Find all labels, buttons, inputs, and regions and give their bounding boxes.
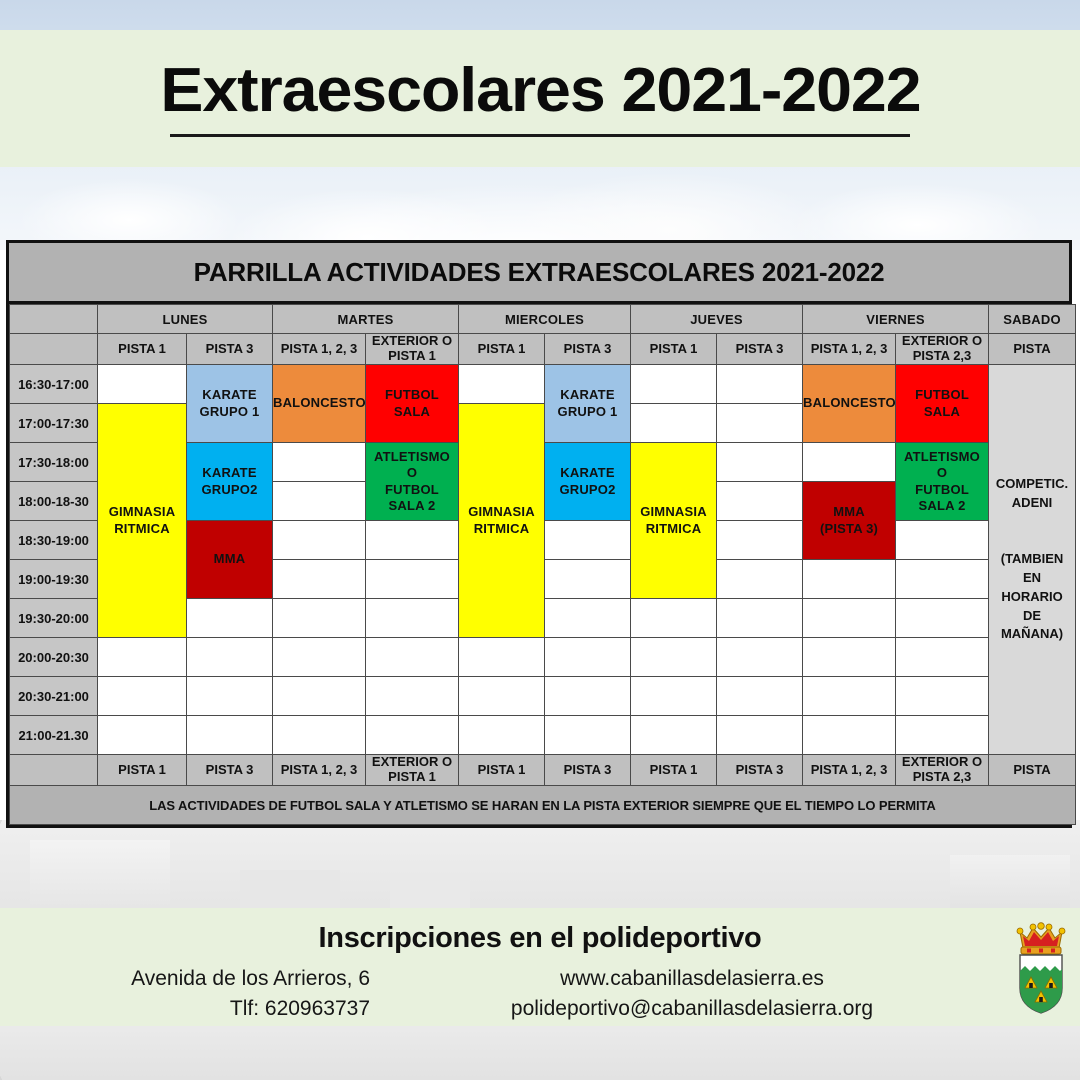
activity-atletismo-futbol-viernes: ATLETISMOOFUTBOLSALA 2 <box>896 443 989 521</box>
table-row: 21:00-21.30 <box>10 716 1076 755</box>
time-label-9: 21:00-21.30 <box>10 716 98 755</box>
day-header-sabado: SABADO <box>989 305 1076 334</box>
court-footer-martes-p123: PISTA 1, 2, 3 <box>273 755 366 786</box>
time-label-5: 19:00-19:30 <box>10 560 98 599</box>
cell-martes-ext-8 <box>366 677 459 716</box>
cell-jueves-p3-9 <box>717 716 803 755</box>
cell-lunes-p1-7 <box>98 638 187 677</box>
court-header-jueves-p3: PISTA 3 <box>717 334 803 365</box>
cell-lunes-p3-7 <box>187 638 273 677</box>
cell-miercoles-p3-6 <box>545 599 631 638</box>
title-underline <box>170 134 910 137</box>
cell-viernes-ext-6 <box>896 599 989 638</box>
activity-karate-grupo1-lunes: KARATEGRUPO 1 <box>187 365 273 443</box>
cell-jueves-p3-2 <box>717 443 803 482</box>
court-footer-martes-ext: EXTERIOR O PISTA 1 <box>366 755 459 786</box>
cell-lunes-p1-9 <box>98 716 187 755</box>
court-header-martes-p123: PISTA 1, 2, 3 <box>273 334 366 365</box>
court-footer-lunes-p1: PISTA 1 <box>98 755 187 786</box>
court-footer-miercoles-p3: PISTA 3 <box>545 755 631 786</box>
time-label-6: 19:30-20:00 <box>10 599 98 638</box>
cell-jueves-p1-9 <box>631 716 717 755</box>
cell-miercoles-p1-7 <box>459 638 545 677</box>
cell-jueves-p3-1 <box>717 404 803 443</box>
schedule-caption: PARRILLA ACTIVIDADES EXTRAESCOLARES 2021… <box>9 243 1069 304</box>
footer-title: Inscripciones en el polideportivo <box>0 922 1080 955</box>
poster: Extraescolares 2021-2022 PARRILLA ACTIVI… <box>0 0 1080 1080</box>
schedule-table: LUNES MARTES MIERCOLES JUEVES VIERNES SA… <box>9 304 1076 825</box>
table-note-row: LAS ACTIVIDADES DE FUTBOL SALA Y ATLETIS… <box>10 786 1076 825</box>
footer-email[interactable]: polideportivo@cabanillasdelasierra.org <box>384 994 1000 1024</box>
cell-martes-p123-7 <box>273 638 366 677</box>
corner-cell-2 <box>10 334 98 365</box>
cell-martes-p123-9 <box>273 716 366 755</box>
time-label-8: 20:30-21:00 <box>10 677 98 716</box>
time-label-4: 18:30-19:00 <box>10 521 98 560</box>
cell-martes-p123-8 <box>273 677 366 716</box>
footer-phone: Tlf: 620963737 <box>0 994 370 1024</box>
cell-jueves-p3-4 <box>717 521 803 560</box>
cell-viernes-ext-5 <box>896 560 989 599</box>
court-footer-viernes-p123: PISTA 1, 2, 3 <box>803 755 896 786</box>
day-header-miercoles: MIERCOLES <box>459 305 631 334</box>
cell-viernes-ext-7 <box>896 638 989 677</box>
activity-mma-lunes: MMA <box>187 521 273 599</box>
activity-mma-viernes: MMA(PISTA 3) <box>803 482 896 560</box>
cell-martes-ext-4 <box>366 521 459 560</box>
cell-jueves-p3-0 <box>717 365 803 404</box>
cell-miercoles-p1-9 <box>459 716 545 755</box>
activity-baloncesto-viernes: BALONCESTO <box>803 365 896 443</box>
table-row: 16:30-17:00 KARATEGRUPO 1 BALONCESTO FUT… <box>10 365 1076 404</box>
cell-miercoles-p3-7 <box>545 638 631 677</box>
time-label-3: 18:00-18-30 <box>10 482 98 521</box>
court-header-miercoles-p1: PISTA 1 <box>459 334 545 365</box>
table-row: 20:00-20:30 <box>10 638 1076 677</box>
footer-address: Avenida de los Arrieros, 6 <box>0 964 370 994</box>
cell-jueves-p3-5 <box>717 560 803 599</box>
cell-jueves-p3-8 <box>717 677 803 716</box>
page-title: Extraescolares 2021-2022 <box>160 60 920 122</box>
cell-miercoles-p3-5 <box>545 560 631 599</box>
time-label-1: 17:00-17:30 <box>10 404 98 443</box>
day-header-jueves: JUEVES <box>631 305 803 334</box>
cell-lunes-p3-6 <box>187 599 273 638</box>
activity-gimnasia-ritmica-jueves: GIMNASIARITMICA <box>631 443 717 599</box>
cell-jueves-p1-0 <box>631 365 717 404</box>
cell-miercoles-p3-4 <box>545 521 631 560</box>
cell-martes-ext-5 <box>366 560 459 599</box>
footer-website[interactable]: www.cabanillasdelasierra.es <box>384 964 1000 994</box>
cell-lunes-p1-8 <box>98 677 187 716</box>
schedule-note: LAS ACTIVIDADES DE FUTBOL SALA Y ATLETIS… <box>10 786 1076 825</box>
cell-viernes-p123-2 <box>803 443 896 482</box>
cell-viernes-p123-5 <box>803 560 896 599</box>
cell-viernes-ext-9 <box>896 716 989 755</box>
cell-jueves-p1-6 <box>631 599 717 638</box>
cell-martes-ext-9 <box>366 716 459 755</box>
court-footer-lunes-p3: PISTA 3 <box>187 755 273 786</box>
cell-jueves-p1-7 <box>631 638 717 677</box>
cell-martes-p123-4 <box>273 521 366 560</box>
schedule-sheet: PARRILLA ACTIVIDADES EXTRAESCOLARES 2021… <box>6 240 1072 828</box>
footer-address-block: Avenida de los Arrieros, 6 Tlf: 62096373… <box>0 964 384 1024</box>
court-footer-viernes-ext: EXTERIOR O PISTA 2,3 <box>896 755 989 786</box>
cell-martes-p123-5 <box>273 560 366 599</box>
cell-miercoles-p1-8 <box>459 677 545 716</box>
cell-jueves-p3-7 <box>717 638 803 677</box>
cell-jueves-p1-8 <box>631 677 717 716</box>
day-header-viernes: VIERNES <box>803 305 989 334</box>
cell-martes-p123-6 <box>273 599 366 638</box>
court-header-sabado: PISTA <box>989 334 1076 365</box>
cell-viernes-p123-9 <box>803 716 896 755</box>
time-label-2: 17:30-18:00 <box>10 443 98 482</box>
corner-cell-3 <box>10 755 98 786</box>
cell-lunes-p3-8 <box>187 677 273 716</box>
court-footer-sabado: PISTA <box>989 755 1076 786</box>
title-banner: Extraescolares 2021-2022 <box>0 30 1080 167</box>
time-label-0: 16:30-17:00 <box>10 365 98 404</box>
cell-martes-p123-2 <box>273 443 366 482</box>
day-header-lunes: LUNES <box>98 305 273 334</box>
cell-miercoles-p3-8 <box>545 677 631 716</box>
time-label-7: 20:00-20:30 <box>10 638 98 677</box>
court-header-jueves-p1: PISTA 1 <box>631 334 717 365</box>
activity-karate-grupo2-lunes: KARATEGRUPO2 <box>187 443 273 521</box>
cell-martes-p123-3 <box>273 482 366 521</box>
cell-lunes-p3-9 <box>187 716 273 755</box>
activity-atletismo-futbol-martes: ATLETISMOOFUTBOLSALA 2 <box>366 443 459 521</box>
table-header-courts: PISTA 1 PISTA 3 PISTA 1, 2, 3 EXTERIOR O… <box>10 334 1076 365</box>
crest-icon <box>1012 918 1070 1016</box>
cell-lunes-p1-0 <box>98 365 187 404</box>
court-header-martes-ext: EXTERIOR O PISTA 1 <box>366 334 459 365</box>
cell-jueves-p3-3 <box>717 482 803 521</box>
cell-viernes-p123-7 <box>803 638 896 677</box>
cell-viernes-ext-4 <box>896 521 989 560</box>
cell-jueves-p3-6 <box>717 599 803 638</box>
court-header-viernes-p123: PISTA 1, 2, 3 <box>803 334 896 365</box>
activity-gimnasia-ritmica-miercoles: GIMNASIARITMICA <box>459 404 545 638</box>
table-row: 20:30-21:00 <box>10 677 1076 716</box>
court-footer-miercoles-p1: PISTA 1 <box>459 755 545 786</box>
cell-jueves-p1-1 <box>631 404 717 443</box>
cell-miercoles-p1-0 <box>459 365 545 404</box>
court-footer-jueves-p1: PISTA 1 <box>631 755 717 786</box>
cell-viernes-p123-6 <box>803 599 896 638</box>
activity-sabado-competicion: COMPETIC.ADENI(TAMBIENENHORARIODEMAÑANA) <box>989 365 1076 755</box>
footer-contact: Avenida de los Arrieros, 6 Tlf: 62096373… <box>0 964 1000 1024</box>
court-footer-jueves-p3: PISTA 3 <box>717 755 803 786</box>
footer-banner: Inscripciones en el polideportivo Avenid… <box>0 908 1080 1026</box>
activity-gimnasia-ritmica-lunes: GIMNASIARITMICA <box>98 404 187 638</box>
court-header-lunes-p3: PISTA 3 <box>187 334 273 365</box>
cell-viernes-ext-8 <box>896 677 989 716</box>
coat-of-arms-logo <box>1012 918 1070 1016</box>
corner-cell <box>10 305 98 334</box>
footer-online-block: www.cabanillasdelasierra.es polideportiv… <box>384 964 1000 1024</box>
activity-baloncesto-martes: BALONCESTO <box>273 365 366 443</box>
cell-martes-ext-6 <box>366 599 459 638</box>
court-header-viernes-ext: EXTERIOR O PISTA 2,3 <box>896 334 989 365</box>
cell-viernes-p123-8 <box>803 677 896 716</box>
day-header-martes: MARTES <box>273 305 459 334</box>
table-footer-courts: PISTA 1 PISTA 3 PISTA 1, 2, 3 EXTERIOR O… <box>10 755 1076 786</box>
cell-miercoles-p3-9 <box>545 716 631 755</box>
court-header-miercoles-p3: PISTA 3 <box>545 334 631 365</box>
table-header-days: LUNES MARTES MIERCOLES JUEVES VIERNES SA… <box>10 305 1076 334</box>
activity-futbol-sala-martes: FUTBOLSALA <box>366 365 459 443</box>
activity-futbol-sala-viernes: FUTBOLSALA <box>896 365 989 443</box>
activity-karate-grupo2-miercoles: KARATEGRUPO2 <box>545 443 631 521</box>
cell-martes-ext-7 <box>366 638 459 677</box>
court-header-lunes-p1: PISTA 1 <box>98 334 187 365</box>
activity-karate-grupo1-miercoles: KARATEGRUPO 1 <box>545 365 631 443</box>
